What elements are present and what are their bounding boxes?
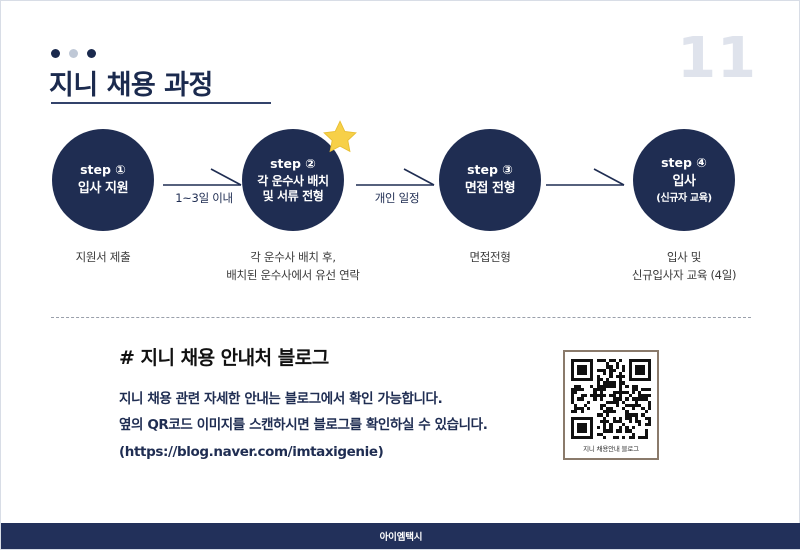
step-main-4: 입사 [672,174,695,190]
step-circle-2: step ② 각 운수사 배치 및 서류 전형 [242,129,344,231]
blog-section: # 지니 채용 안내처 블로그 지니 채용 관련 자세한 안내는 블로그에서 확… [119,343,549,465]
flow-step-3: step ③ 면접 전형 면접전형 [410,129,570,267]
title-dot-3 [87,49,96,58]
step-circle-4: step ④ 입사 (신규자 교육) [633,129,735,231]
step-caption-3: 면접전형 [410,249,570,267]
step-label-1: step ① [80,162,126,179]
step-main-1: 입사 지원 [78,181,128,197]
title-dot-2 [69,49,78,58]
footer-bar: 아이엠택시 [1,523,800,549]
flow-step-1: step ① 입사 지원 지원서 제출 [23,129,183,267]
step-circle-3: step ③ 면접 전형 [439,129,541,231]
slide-canvas: 지니 채용 과정 11 step ① 입사 지원 지원서 제출 1~3일 이내 … [0,0,800,550]
blog-line-2: 옆의 QR코드 이미지를 스캔하시면 블로그를 확인하실 수 있습니다. [119,412,549,438]
blog-heading: # 지니 채용 안내처 블로그 [119,343,549,370]
footer-text: 아이엠택시 [380,529,423,543]
step-caption-1: 지원서 제출 [23,249,183,267]
step-label-4: step ④ [661,155,707,172]
qr-code-box[interactable]: 지니 채용안내 블로그 [563,350,659,460]
title-dots [51,49,96,58]
flow-step-4: step ④ 입사 (신규자 교육) 입사 및 신규입사자 교육 (4일) [604,129,764,285]
step-sub-4: (신규자 교육) [656,192,711,205]
page-title: 지니 채용 과정 [49,63,213,102]
title-dot-1 [51,49,60,58]
step-label-2: step ② [270,156,316,173]
section-divider [51,317,751,318]
qr-code-image [571,359,651,439]
step-label-3: step ③ [467,162,513,179]
step-main-3: 면접 전형 [465,181,515,197]
star-icon [322,119,358,155]
step-circle-1: step ① 입사 지원 [52,129,154,231]
step-main-2: 각 운수사 배치 및 서류 전형 [257,174,328,204]
flow-step-2: step ② 각 운수사 배치 및 서류 전형 각 운수사 배치 후, 배치된 … [213,129,373,285]
blog-line-1: 지니 채용 관련 자세한 안내는 블로그에서 확인 가능합니다. [119,386,549,412]
step-caption-4: 입사 및 신규입사자 교육 (4일) [604,249,764,285]
recruitment-flow: step ① 입사 지원 지원서 제출 1~3일 이내 step ② 각 운수사… [1,129,800,299]
page-number: 11 [677,31,757,87]
step-caption-2: 각 운수사 배치 후, 배치된 운수사에서 유선 연락 [213,249,373,285]
qr-caption: 지니 채용안내 블로그 [583,443,639,453]
title-underline [51,102,271,104]
blog-url[interactable]: (https://blog.naver.com/imtaxigenie) [119,439,549,465]
